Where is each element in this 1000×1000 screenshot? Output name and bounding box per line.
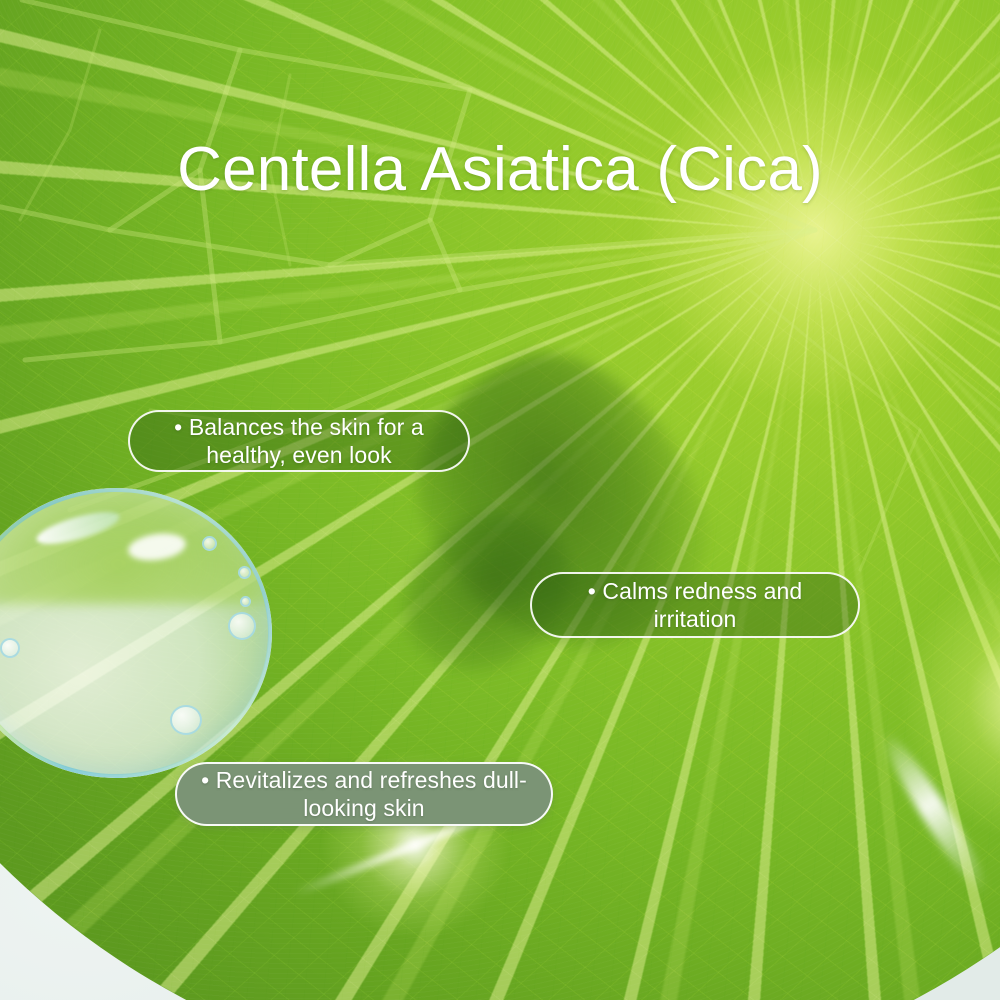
droplet-inner-bubble xyxy=(240,596,251,607)
droplet-inner-bubble xyxy=(170,705,202,735)
droplet-inner-bubble xyxy=(0,638,20,658)
droplet-inner-bubble xyxy=(228,612,256,640)
benefit-pill-revitalizes: • Revitalizes and refreshes dull-looking… xyxy=(175,762,553,826)
benefit-pill-balances: • Balances the skin for a healthy, even … xyxy=(128,410,470,472)
page-title: Centella Asiatica (Cica) xyxy=(0,139,1000,201)
droplet-inner-bubble xyxy=(238,566,251,579)
ingredient-infographic: Centella Asiatica (Cica) • Balances the … xyxy=(0,0,1000,1000)
benefit-pill-calms: • Calms redness and irritation xyxy=(530,572,860,638)
droplet-inner-bubble xyxy=(202,536,217,551)
